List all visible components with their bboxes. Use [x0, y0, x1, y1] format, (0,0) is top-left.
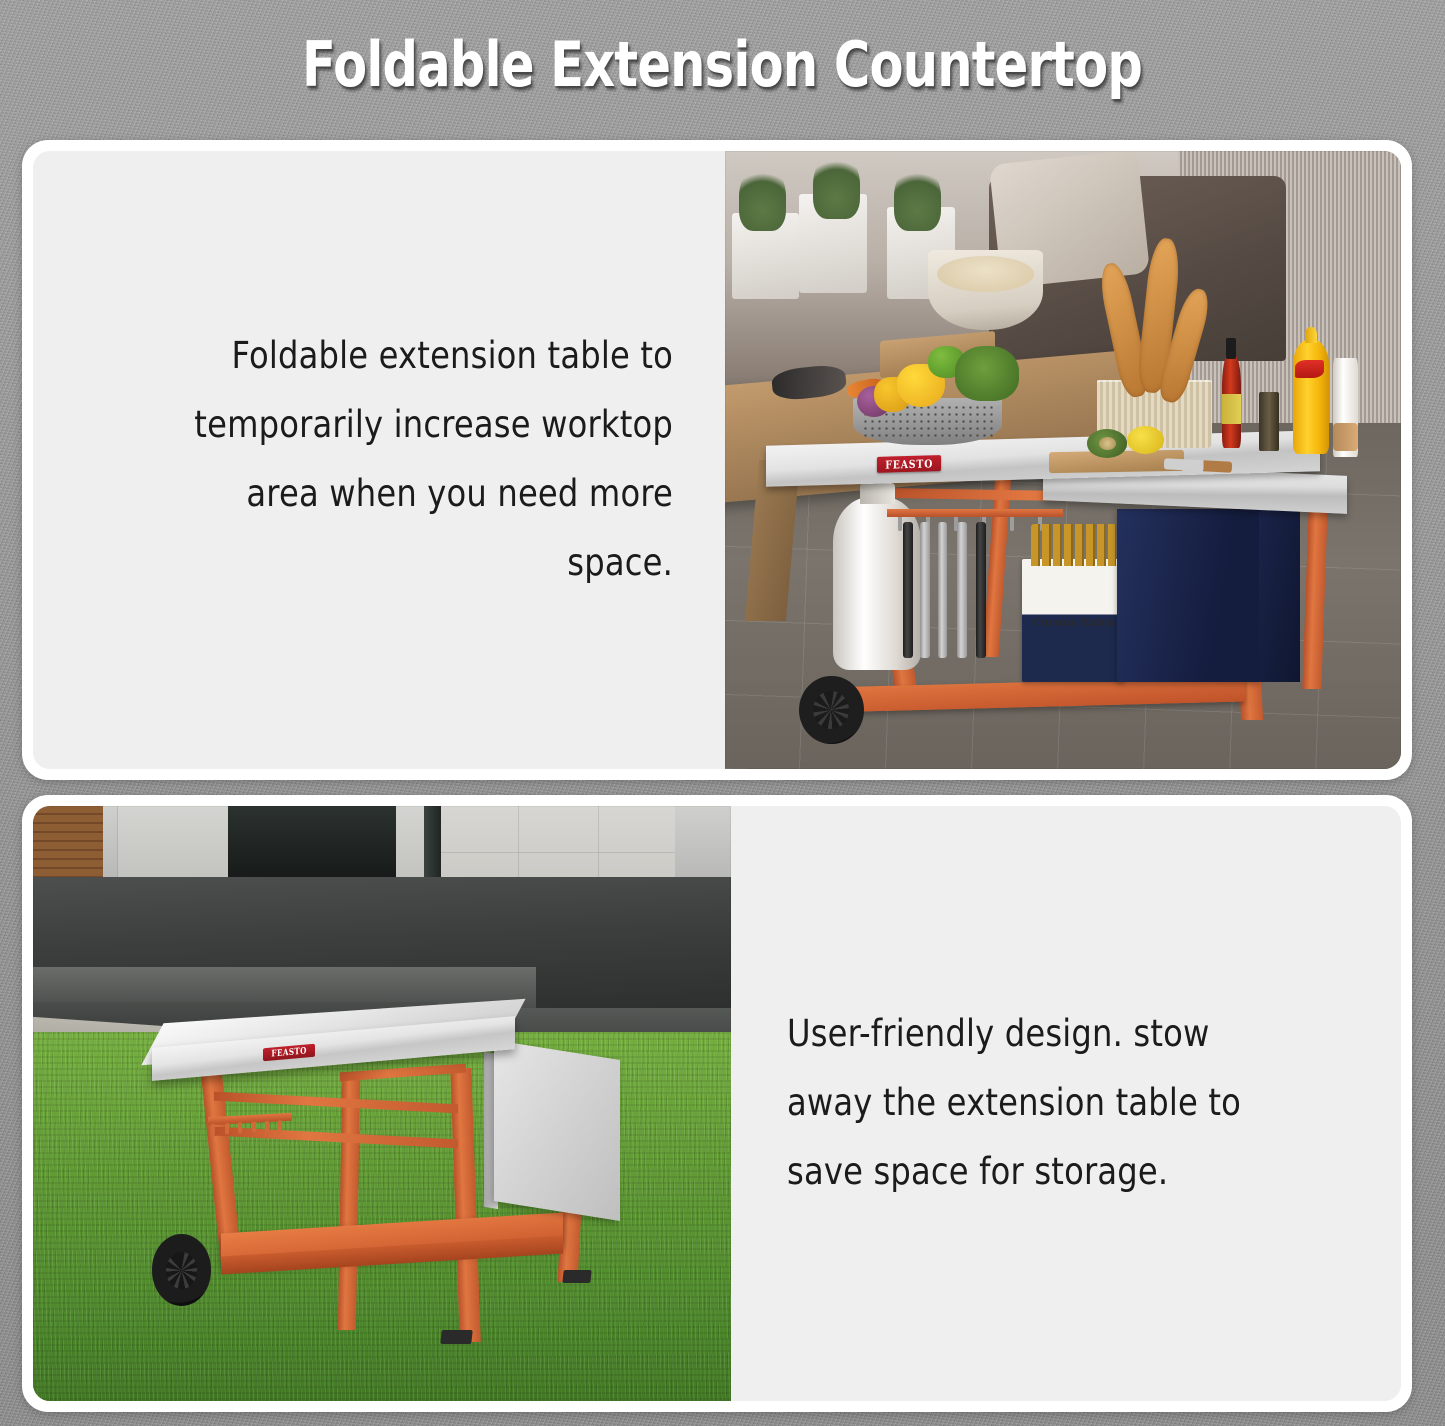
basting-brush — [976, 522, 986, 658]
page-title: Foldable Extension Countertop — [302, 28, 1142, 101]
feature-card-top: Foldable extension table to temporarily … — [22, 140, 1412, 780]
beer-six-pack: Corona Extra — [1022, 559, 1123, 683]
beer-bottles — [1031, 524, 1116, 566]
lawn-cart-folded-photo: FEASTO — [33, 806, 731, 1401]
beer-brand-label: Corona Extra — [1029, 616, 1118, 641]
s-hook-icon — [1010, 517, 1014, 531]
feature-text-bottom: User-friendly design. stow away the exte… — [787, 1000, 1286, 1206]
potted-plant — [894, 163, 941, 231]
hanging-bbq-tools — [901, 522, 1009, 658]
patio-cart-with-food-photo: Corona Extra FEASTO — [725, 151, 1401, 769]
mustard-bottle — [1293, 339, 1330, 453]
feature-card-bottom-inner: FEASTO User-friendly design. stow away t… — [33, 806, 1401, 1401]
s-hook-icon — [211, 1125, 215, 1136]
celebration-pack-box-side — [1259, 509, 1300, 682]
broccoli — [955, 346, 1019, 402]
s-hook-icon — [251, 1123, 255, 1134]
feature-card-bottom: FEASTO User-friendly design. stow away t… — [22, 795, 1412, 1412]
seasoning-shaker — [1333, 358, 1357, 457]
title-bar: Foldable Extension Countertop — [0, 0, 1445, 128]
avocado — [1087, 429, 1128, 457]
green-lawn — [33, 1032, 731, 1401]
rubber-foot-cap — [563, 1270, 592, 1283]
bbq-fork — [938, 522, 948, 658]
tool-hook-bar — [887, 509, 1063, 516]
feature-text-pane-bottom: User-friendly design. stow away the exte… — [731, 806, 1401, 1401]
s-hook-icon — [238, 1123, 242, 1134]
s-hook-icon — [278, 1121, 282, 1132]
dark-doorway — [228, 806, 396, 877]
bbq-tongs — [903, 522, 913, 658]
feature-text-pane-top: Foldable extension table to temporarily … — [33, 151, 725, 769]
cart-wheel — [152, 1234, 211, 1305]
feature-text-top: Foldable extension table to temporarily … — [151, 322, 673, 597]
feature-card-top-inner: Foldable extension table to temporarily … — [33, 151, 1401, 769]
s-hook-icon — [224, 1124, 228, 1135]
brand-badge-label: FEASTO — [885, 457, 933, 471]
hot-sauce-bottle — [1222, 355, 1241, 448]
brand-badge-label: FEASTO — [272, 1046, 307, 1059]
potted-plant — [739, 163, 786, 231]
bbq-spatula — [920, 522, 930, 658]
mustard-brand-label — [1295, 360, 1324, 378]
rubber-foot-cap — [441, 1330, 474, 1344]
feasto-brand-badge: FEASTO — [877, 455, 941, 473]
s-hook-icon — [264, 1122, 268, 1133]
spice-jar — [1259, 392, 1279, 451]
white-serving-bowl — [928, 250, 1043, 330]
cart-wheel — [799, 676, 863, 744]
bbq-skewer — [957, 522, 967, 658]
potted-plant — [813, 151, 860, 219]
celebration-pack-box — [1117, 509, 1259, 682]
folded-down-extension-table — [494, 1040, 620, 1221]
